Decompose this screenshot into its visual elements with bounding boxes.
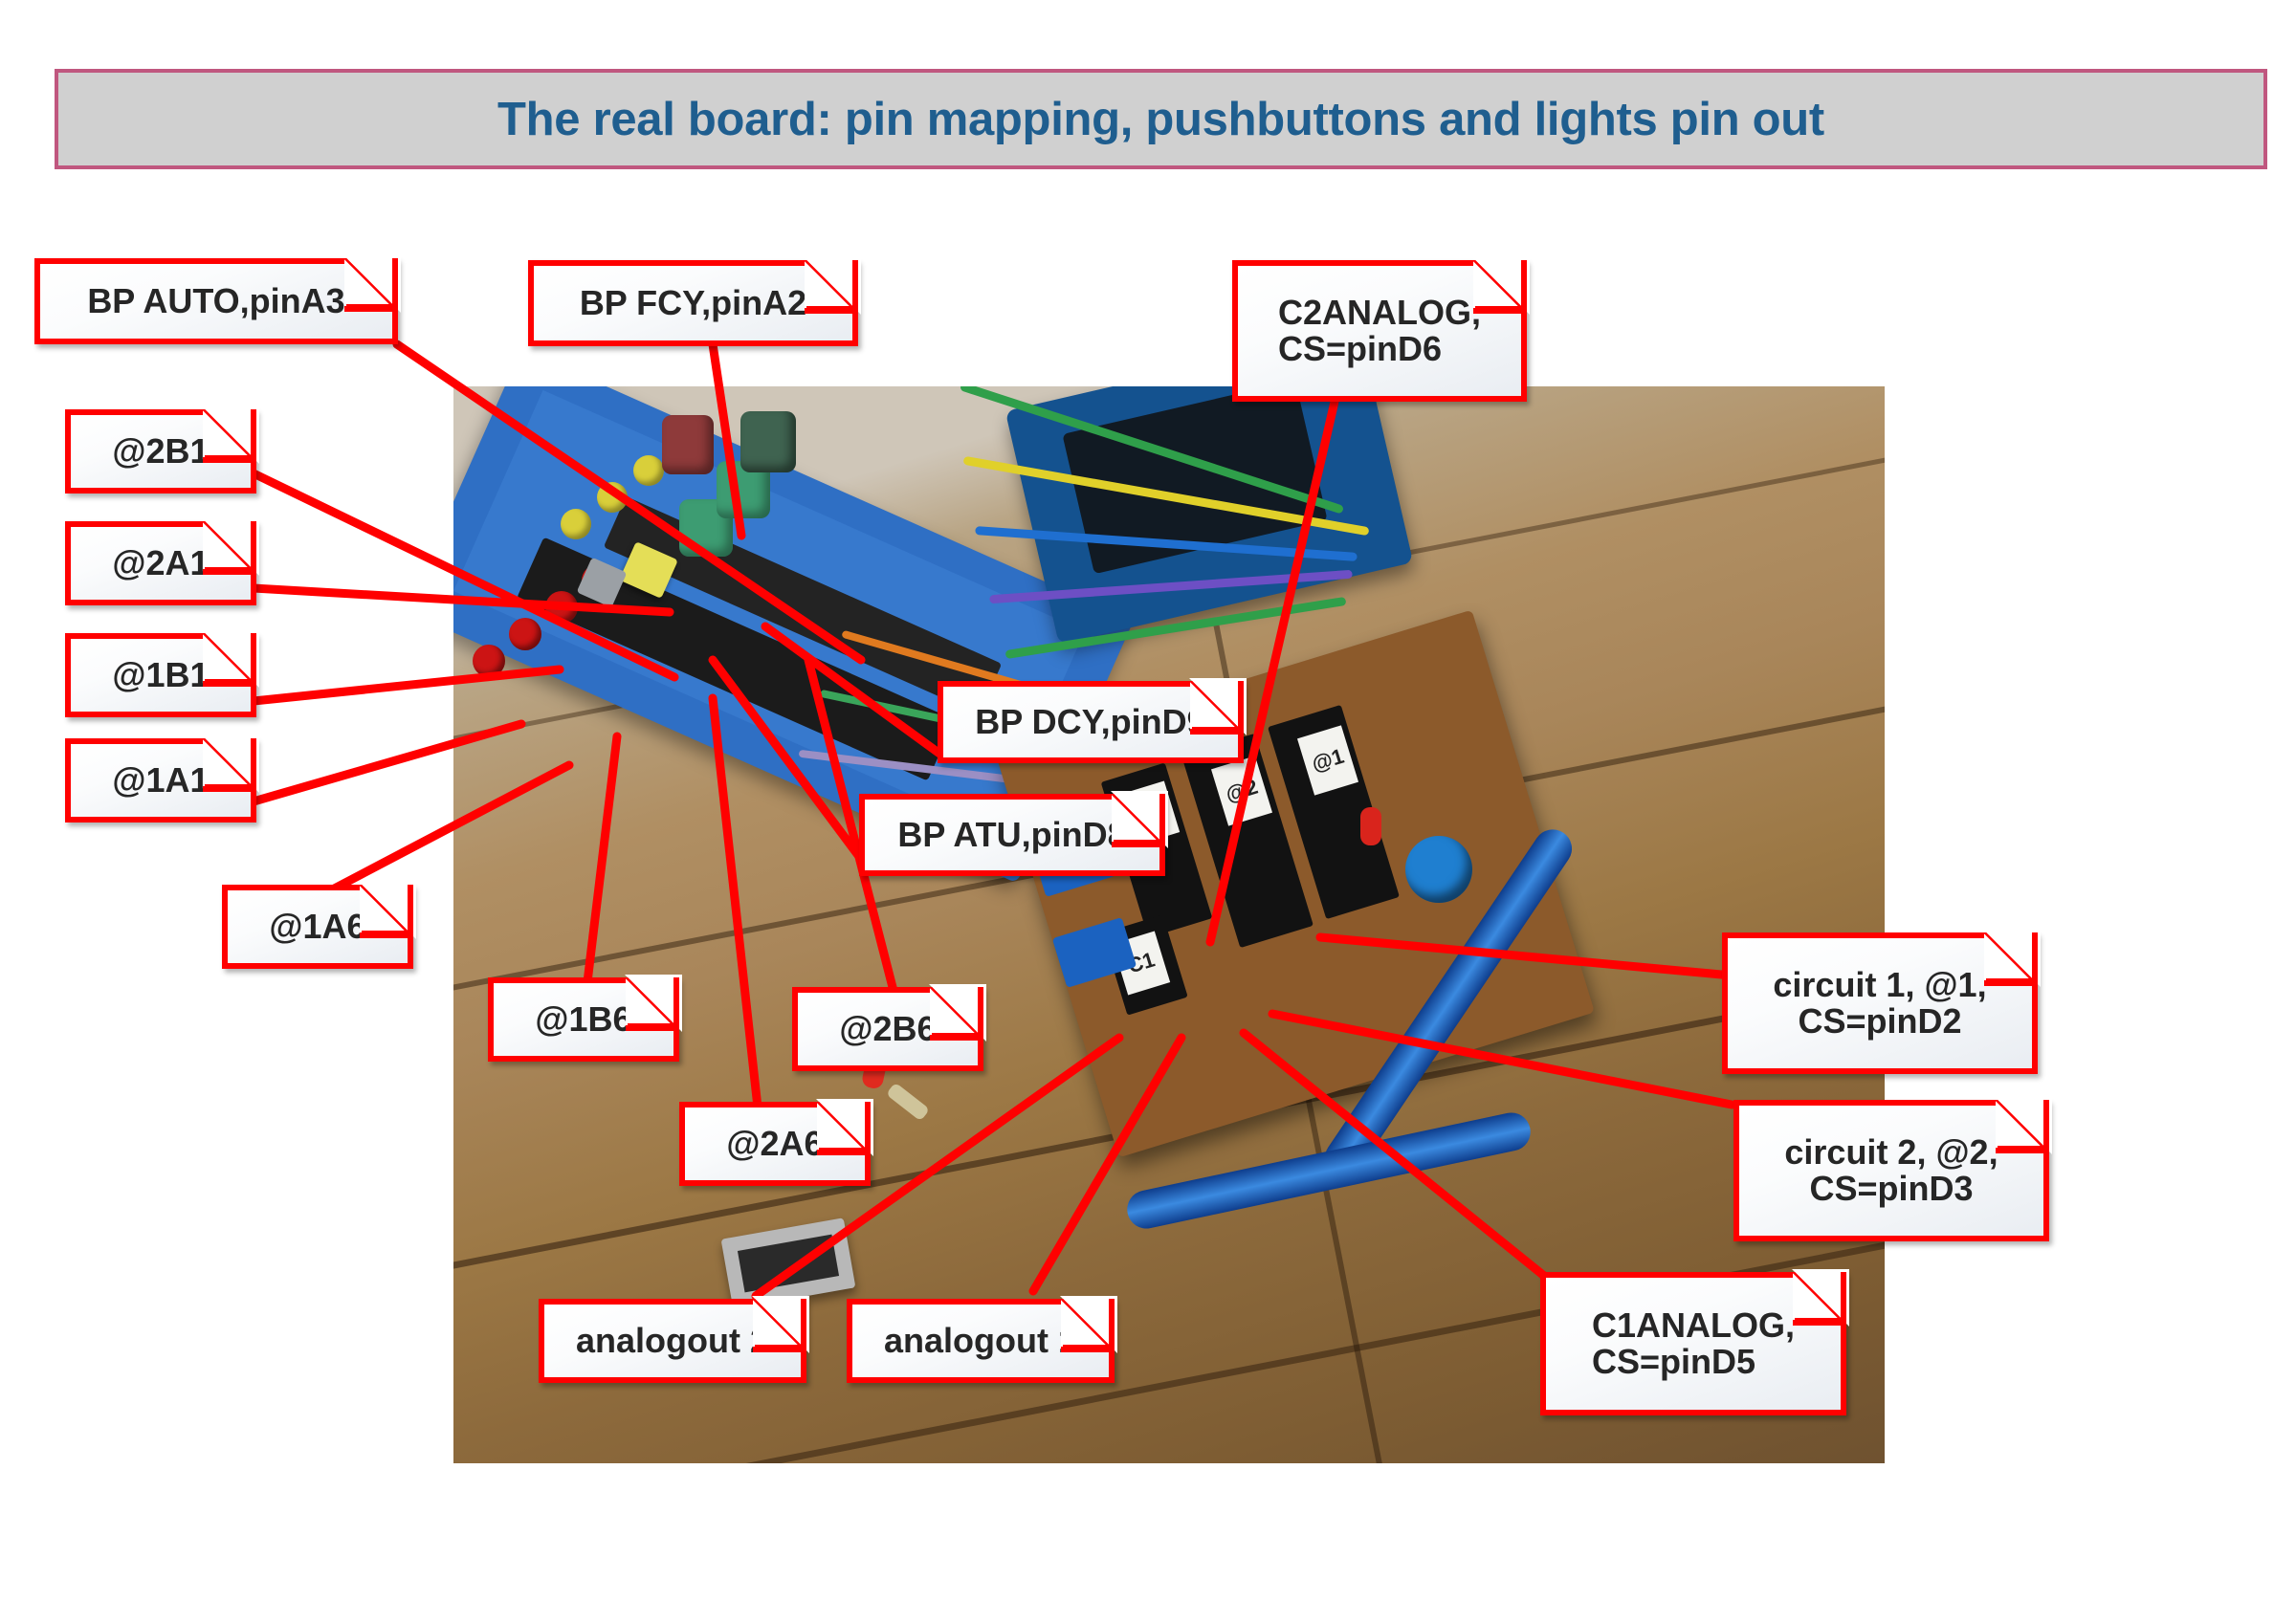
- callout-bp-atu-pind8[interactable]: BP ATU,pinD8: [859, 794, 1165, 876]
- yellow-led: [633, 455, 664, 486]
- callout-analogout-1[interactable]: analogout 1: [847, 1299, 1115, 1383]
- page-title: The real board: pin mapping, pushbuttons…: [497, 93, 1824, 146]
- folded-corner-icon: [203, 521, 256, 575]
- callout-text: @2B6: [839, 1011, 936, 1047]
- electrolytic-capacitor: [1405, 836, 1472, 903]
- callout-text: C2ANALOG, CS=pinD6: [1278, 295, 1481, 367]
- callout-text: BP FCY,pinA2: [580, 285, 806, 321]
- callout-text: analogout 1: [884, 1323, 1077, 1359]
- folded-corner-icon: [1984, 932, 2038, 986]
- callout-at-2b6[interactable]: @2B6: [792, 987, 983, 1071]
- folded-corner-icon: [1061, 1299, 1115, 1352]
- callout-text: BP DCY,pinD9: [975, 704, 1205, 740]
- red-led: [509, 618, 541, 650]
- callout-text: analogout 2: [576, 1323, 769, 1359]
- folded-corner-icon: [1190, 681, 1244, 735]
- callout-text: BP ATU,pinD8: [897, 817, 1126, 853]
- folded-corner-icon: [203, 738, 256, 792]
- callout-at-1b6[interactable]: @1B6: [488, 977, 679, 1062]
- red-led: [473, 645, 505, 677]
- callout-text: @2B1: [112, 433, 209, 470]
- callout-text: @1B1: [112, 657, 209, 693]
- callout-analogout-2[interactable]: analogout 2: [539, 1299, 806, 1383]
- callout-at-1b1[interactable]: @1B1: [65, 633, 256, 717]
- callout-circuit-2-cs-pind3[interactable]: circuit 2, @2, CS=pinD3: [1733, 1100, 2049, 1241]
- callout-text: @2A6: [726, 1126, 823, 1162]
- folded-corner-icon: [1996, 1100, 2049, 1153]
- callout-at-1a1[interactable]: @1A1: [65, 738, 256, 822]
- red-led: [545, 591, 578, 624]
- folded-corner-icon: [930, 987, 983, 1041]
- callout-bp-auto-pina3[interactable]: BP AUTO,pinA3: [34, 258, 398, 344]
- yellow-led: [597, 482, 628, 513]
- folded-corner-icon: [203, 409, 256, 463]
- folded-corner-icon: [203, 633, 256, 687]
- folded-corner-icon: [1473, 260, 1527, 314]
- callout-at-1a6[interactable]: @1A6: [222, 885, 413, 969]
- callout-c1analog-cs-pind5[interactable]: C1ANALOG, CS=pinD5: [1540, 1272, 1846, 1415]
- callout-circuit-1-cs-pind2[interactable]: circuit 1, @1, CS=pinD2: [1722, 932, 2038, 1074]
- pushbutton-dark-green: [740, 411, 796, 472]
- callout-bp-fcy-pina2[interactable]: BP FCY,pinA2: [528, 260, 858, 346]
- callout-text: @1A1: [112, 762, 209, 799]
- callout-text: BP AUTO,pinA3: [87, 283, 344, 319]
- folded-corner-icon: [1112, 794, 1165, 847]
- folded-corner-icon: [360, 885, 413, 938]
- callout-at-2b1[interactable]: @2B1: [65, 409, 256, 493]
- pushbutton-dark-red: [662, 415, 714, 474]
- callout-at-2a1[interactable]: @2A1: [65, 521, 256, 605]
- folded-corner-icon: [344, 258, 398, 312]
- slide-title-bar: The real board: pin mapping, pushbuttons…: [55, 69, 2267, 169]
- callout-c2analog-cs-pind6[interactable]: C2ANALOG, CS=pinD6: [1232, 260, 1527, 402]
- callout-text: @1A6: [269, 909, 365, 945]
- folded-corner-icon: [626, 977, 679, 1031]
- callout-text: @2A1: [112, 545, 209, 581]
- callout-text: circuit 1, @1, CS=pinD2: [1773, 967, 1986, 1040]
- folded-corner-icon: [805, 260, 858, 314]
- folded-corner-icon: [1793, 1272, 1846, 1326]
- callout-text: C1ANALOG, CS=pinD5: [1592, 1307, 1795, 1380]
- folded-corner-icon: [817, 1102, 871, 1155]
- callout-text: @1B6: [535, 1001, 631, 1038]
- yellow-led: [561, 509, 591, 539]
- red-led-perfboard: [1360, 807, 1381, 845]
- callout-text: circuit 2, @2, CS=pinD3: [1784, 1134, 1998, 1207]
- folded-corner-icon: [753, 1299, 806, 1352]
- callout-bp-dcy-pind9[interactable]: BP DCY,pinD9: [938, 681, 1244, 763]
- callout-at-2a6[interactable]: @2A6: [679, 1102, 871, 1186]
